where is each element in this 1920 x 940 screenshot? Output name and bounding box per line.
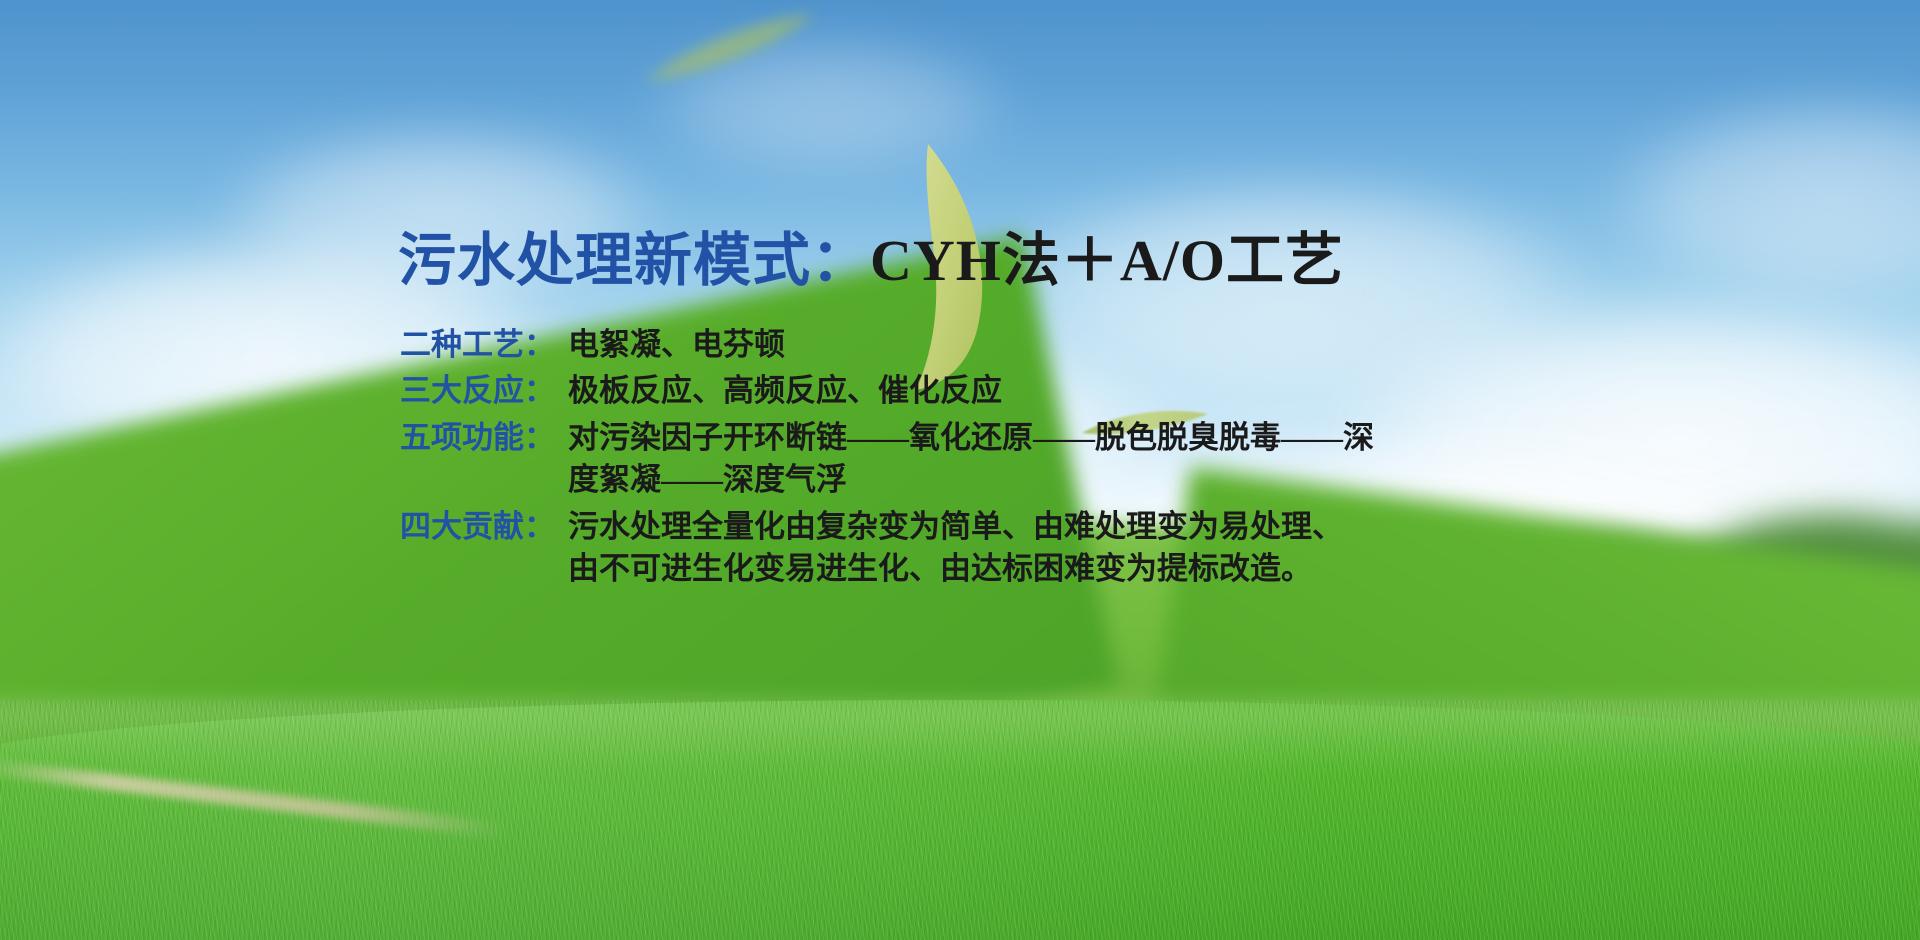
bullet-list: 二种工艺： 电絮凝、电芬顿 三大反应： 极板反应、高频反应、催化反应 五项功能：… bbox=[400, 324, 1578, 591]
list-item-value-line2: 度絮凝——深度气浮 bbox=[568, 459, 1578, 501]
list-item: 二种工艺： 电絮凝、电芬顿 bbox=[400, 324, 1578, 366]
list-item: 四大贡献： 污水处理全量化由复杂变为简单、由难处理变为易处理、 由不可进生化变易… bbox=[400, 506, 1578, 591]
page-title-highlight: 污水处理新模式： bbox=[398, 228, 870, 293]
slide-content: 污水处理新模式：CYH法＋A/O工艺 二种工艺： 电絮凝、电芬顿 三大反应： 极… bbox=[398, 232, 1578, 595]
list-item-value: 电絮凝、电芬顿 bbox=[568, 324, 1578, 366]
lawn-texture bbox=[0, 700, 1920, 940]
page-title: 污水处理新模式：CYH法＋A/O工艺 bbox=[398, 232, 1578, 290]
page-title-rest: CYH法＋A/O工艺 bbox=[870, 228, 1344, 293]
list-item-value: 极板反应、高频反应、催化反应 bbox=[568, 370, 1578, 412]
list-item: 三大反应： 极板反应、高频反应、催化反应 bbox=[400, 370, 1578, 412]
foreground-lawn bbox=[0, 700, 1920, 940]
list-item-value-line1: 污水处理全量化由复杂变为简单、由难处理变为易处理、 bbox=[568, 509, 1343, 544]
list-item-label: 四大贡献： bbox=[400, 506, 568, 548]
list-item-value-line2: 由不可进生化变易进生化、由达标困难变为提标改造。 bbox=[568, 548, 1578, 590]
list-item-value-line1: 极板反应、高频反应、催化反应 bbox=[568, 373, 1002, 408]
list-item-label: 二种工艺： bbox=[400, 324, 568, 366]
list-item-value: 污水处理全量化由复杂变为简单、由难处理变为易处理、 由不可进生化变易进生化、由达… bbox=[568, 506, 1578, 591]
slide-canvas: 污水处理新模式：CYH法＋A/O工艺 二种工艺： 电絮凝、电芬顿 三大反应： 极… bbox=[0, 0, 1920, 940]
list-item-label: 五项功能： bbox=[400, 417, 568, 459]
list-item-value-line1: 电絮凝、电芬顿 bbox=[568, 327, 785, 362]
list-item-value-line1: 对污染因子开环断链——氧化还原——脱色脱臭脱毒——深 bbox=[568, 420, 1374, 455]
list-item: 五项功能： 对污染因子开环断链——氧化还原——脱色脱臭脱毒——深 度絮凝——深度… bbox=[400, 417, 1578, 502]
list-item-label: 三大反应： bbox=[400, 370, 568, 412]
list-item-value: 对污染因子开环断链——氧化还原——脱色脱臭脱毒——深 度絮凝——深度气浮 bbox=[568, 417, 1578, 502]
